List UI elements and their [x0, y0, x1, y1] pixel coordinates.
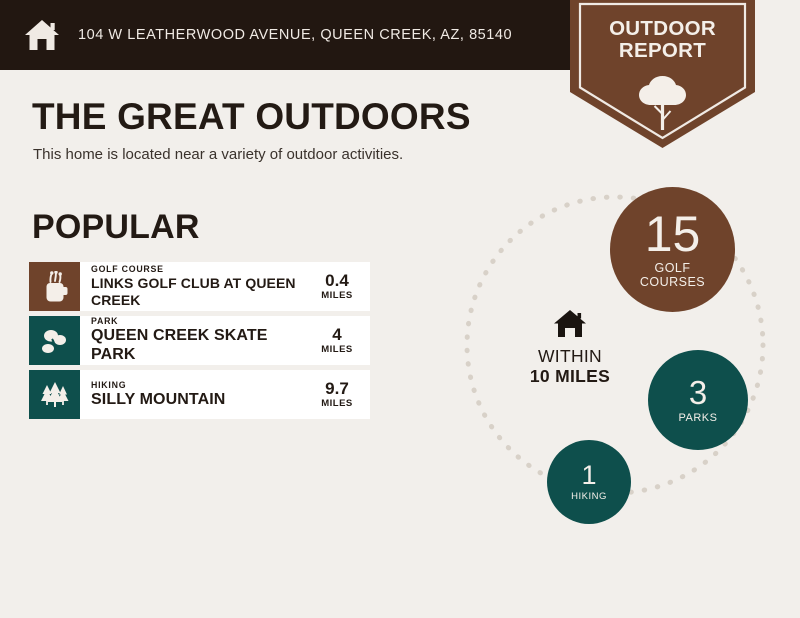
bubble-hiking[interactable]: 1 HIKING	[547, 440, 631, 524]
list-item[interactable]: GOLF COURSE LINKS GOLF CLUB AT QUEEN CRE…	[29, 262, 370, 311]
item-distance-unit: MILES	[321, 398, 353, 409]
popular-list: GOLF COURSE LINKS GOLF CLUB AT QUEEN CRE…	[29, 262, 370, 424]
item-distance: 9.7 MILES	[308, 380, 366, 409]
outdoor-report-badge: OUTDOOR REPORT	[570, 0, 755, 148]
popular-heading: POPULAR	[32, 208, 200, 247]
item-distance-unit: MILES	[321, 290, 353, 301]
bubble-label: HIKING	[571, 492, 607, 502]
page-title: THE GREAT OUTDOORS	[32, 96, 471, 138]
item-content: HIKING SILLY MOUNTAIN 9.7 MILES	[80, 370, 370, 419]
list-item[interactable]: HIKING SILLY MOUNTAIN 9.7 MILES	[29, 370, 370, 419]
item-content: PARK QUEEN CREEK SKATE PARK 4 MILES	[80, 316, 370, 365]
item-distance: 0.4 MILES	[308, 272, 366, 301]
bubble-label-line-1: GOLF	[640, 262, 705, 276]
item-name: QUEEN CREEK SKATE PARK	[91, 327, 308, 365]
item-category: GOLF COURSE	[91, 264, 308, 275]
item-distance-value: 0.4	[325, 272, 349, 290]
park-icon	[39, 327, 71, 355]
item-category: HIKING	[91, 380, 308, 391]
bubble-count: 1	[581, 462, 596, 489]
bubble-label: PARKS	[679, 412, 718, 424]
item-distance-unit: MILES	[321, 344, 353, 355]
bubble-label: GOLF COURSES	[640, 262, 705, 290]
within-10-miles-diagram: 15 GOLF COURSES 3 PARKS 1 HIKING WITHIN …	[455, 175, 800, 540]
bubble-count: 15	[645, 209, 701, 259]
item-category: PARK	[91, 316, 308, 327]
item-icon-tile	[29, 370, 80, 419]
item-texts: GOLF COURSE LINKS GOLF CLUB AT QUEEN CRE…	[91, 262, 308, 311]
item-texts: HIKING SILLY MOUNTAIN	[91, 370, 308, 419]
header-bar: 104 W LEATHERWOOD AVENUE, QUEEN CREEK, A…	[0, 0, 570, 70]
item-distance-value: 9.7	[325, 380, 349, 398]
bubble-count: 3	[689, 376, 707, 409]
center-line-2: 10 MILES	[500, 367, 640, 387]
item-name: SILLY MOUNTAIN	[91, 391, 308, 410]
item-distance: 4 MILES	[308, 326, 366, 355]
property-address: 104 W LEATHERWOOD AVENUE, QUEEN CREEK, A…	[78, 27, 512, 43]
trees-icon	[39, 381, 71, 409]
golf-bag-icon	[40, 271, 70, 303]
item-icon-tile	[29, 262, 80, 311]
item-texts: PARK QUEEN CREEK SKATE PARK	[91, 316, 308, 365]
item-content: GOLF COURSE LINKS GOLF CLUB AT QUEEN CRE…	[80, 262, 370, 311]
bubble-golf-courses[interactable]: 15 GOLF COURSES	[610, 187, 735, 312]
home-icon	[22, 15, 62, 55]
page-subtitle: This home is located near a variety of o…	[33, 146, 403, 163]
outdoor-report-page: 104 W LEATHERWOOD AVENUE, QUEEN CREEK, A…	[0, 0, 800, 618]
item-distance-value: 4	[332, 326, 341, 344]
bubble-parks[interactable]: 3 PARKS	[648, 350, 748, 450]
footer: 2025 ARMLS ListReports DISCLAIMER: The i…	[0, 548, 800, 618]
center-line-1: WITHIN	[500, 347, 640, 367]
item-icon-tile	[29, 316, 80, 365]
diagram-center: WITHIN 10 MILES	[500, 308, 640, 386]
item-name: LINKS GOLF CLUB AT QUEEN CREEK	[91, 275, 308, 308]
home-icon	[553, 308, 587, 339]
bubble-label-line-2: COURSES	[640, 276, 705, 290]
list-item[interactable]: PARK QUEEN CREEK SKATE PARK 4 MILES	[29, 316, 370, 365]
